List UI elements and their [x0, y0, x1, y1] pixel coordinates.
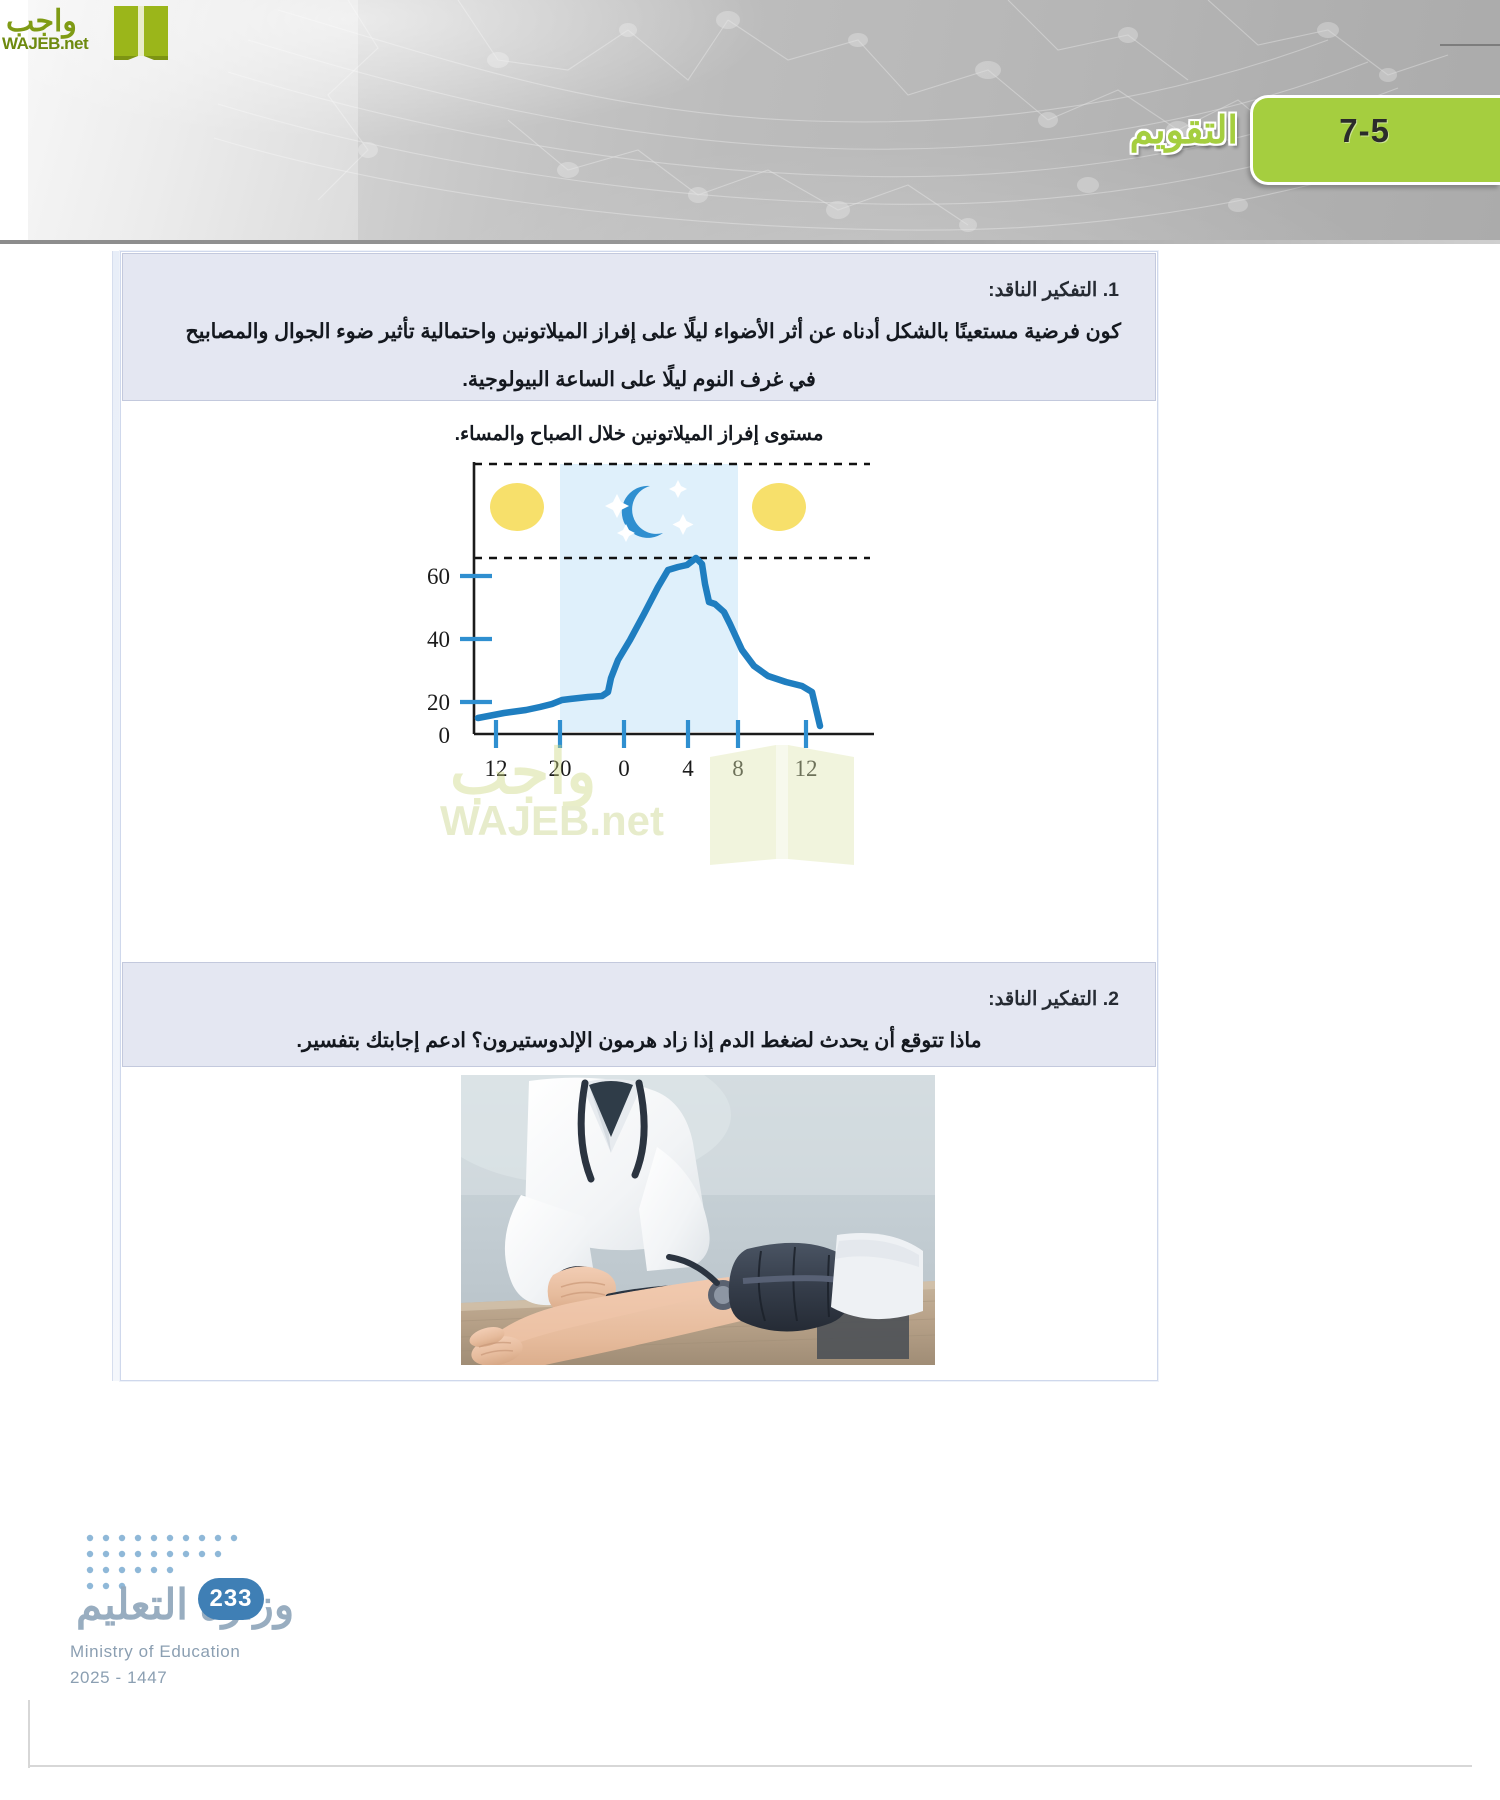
svg-text:20: 20 [549, 756, 572, 781]
x-axis-labels: 12 20 0 4 8 12 [485, 756, 818, 781]
footer-bottom-rule [28, 1765, 1472, 1767]
section-title: التقويم [1130, 108, 1238, 153]
wajeb-logo-net: WAJEB.net [2, 34, 88, 54]
question-2-label: 2. التفكير الناقد: [157, 987, 1119, 1011]
page-footer: وزارة التعليم 233 Ministry of Education … [70, 1530, 400, 1720]
svg-text:8: 8 [732, 756, 744, 781]
svg-text:60: 60 [427, 564, 450, 589]
ministry-name-en: Ministry of Education [70, 1642, 240, 1662]
sun-icon-left [490, 483, 544, 531]
svg-text:4: 4 [682, 756, 694, 781]
page-number-badge: 233 [198, 1578, 264, 1620]
svg-text:20: 20 [427, 690, 450, 715]
question-1-prompt: 1. التفكير الناقد: كون فرضية مستعينًا با… [122, 253, 1156, 401]
blood-pressure-illustration [461, 1075, 935, 1365]
footer-tick-rule [28, 1700, 30, 1768]
svg-text:12: 12 [485, 756, 508, 781]
question-2-line-1: ماذا تتوقع أن يحدث لضغط الدم إذا زاد هرم… [157, 1023, 1121, 1059]
page-left-rail [112, 251, 120, 1381]
y-axis-ticks [460, 576, 492, 702]
footer-year: 2025 - 1447 [70, 1668, 167, 1688]
question-1-line-2: في غرف النوم ليلًا على الساعة البيولوجية… [157, 362, 1121, 398]
textbook-page: 7-5 التقويم واجب WAJEB.net 1. التفكير ال… [0, 0, 1500, 1800]
question-1-label: 1. التفكير الناقد: [157, 278, 1119, 302]
wajeb-logo: واجب WAJEB.net [2, 2, 174, 60]
open-book-icon [110, 2, 172, 60]
svg-text:12: 12 [795, 756, 818, 781]
melatonin-chart: مستوى إفراز الميلاتونين خلال الصباح والم… [122, 402, 1156, 960]
banner-bottom-rule [0, 240, 1500, 244]
page-header-banner: 7-5 التقويم [0, 0, 1500, 248]
banner-notch [1440, 44, 1500, 46]
sun-icon-right [752, 483, 806, 531]
svg-text:40: 40 [427, 627, 450, 652]
svg-text:0: 0 [439, 723, 451, 748]
chart-svg: 60 40 20 0 [412, 454, 882, 784]
y-axis-labels: 60 40 20 0 [427, 564, 450, 748]
content-frame: 1. التفكير الناقد: كون فرضية مستعينًا با… [120, 251, 1158, 1381]
question-1-line-1: كون فرضية مستعينًا بالشكل أدناه عن أثر ا… [157, 314, 1121, 350]
chart-plot-area: 60 40 20 0 [412, 454, 882, 784]
svg-text:0: 0 [618, 756, 630, 781]
question-2-prompt: 2. التفكير الناقد: ماذا تتوقع أن يحدث لض… [122, 962, 1156, 1067]
chart-title: مستوى إفراز الميلاتونين خلال الصباح والم… [122, 422, 1156, 446]
section-number: 7-5 [1339, 112, 1390, 150]
blood-pressure-photo [461, 1075, 935, 1365]
